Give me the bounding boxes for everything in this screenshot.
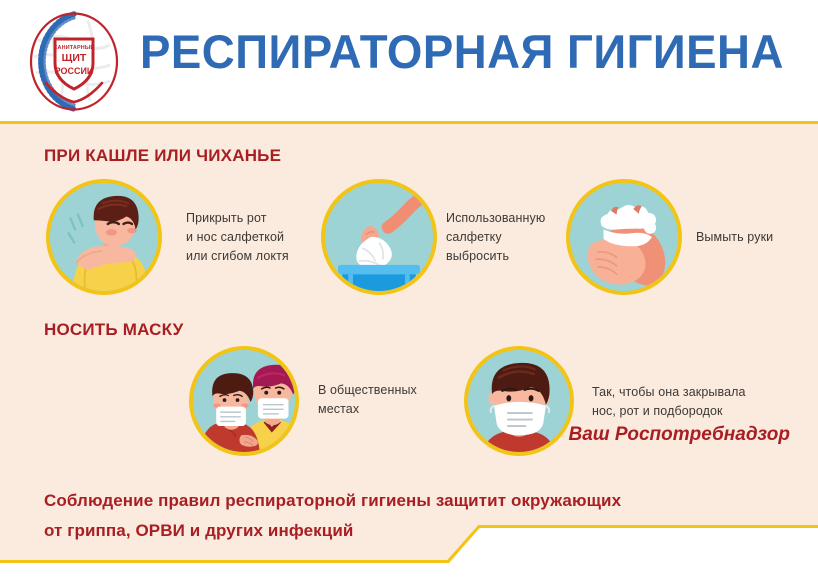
page-title: РЕСПИРАТОРНАЯ ГИГИЕНА: [140, 26, 784, 78]
section-heading-cough: ПРИ КАШЛЕ ИЛИ ЧИХАНЬЕ: [44, 146, 281, 166]
caption-wash-hands: Вымыть руки: [696, 228, 806, 247]
caption-mask-coverage: Так, чтобы она закрывала нос, рот и подб…: [592, 383, 782, 421]
footer-message: Соблюдение правил респираторной гигиены …: [44, 486, 621, 546]
caption-public-places: В общественных местах: [318, 381, 448, 419]
section-heading-mask: НОСИТЬ МАСКУ: [44, 320, 183, 340]
logo-line-1: САНИТАРНЫЙ: [54, 43, 95, 51]
soapy-hands-washing-icon: [566, 179, 682, 295]
hand-dropping-tissue-into-bin-icon: [321, 179, 437, 295]
top-gold-rule: [0, 121, 818, 124]
person-coughing-into-elbow-icon: [46, 179, 162, 295]
infographic-poster: САНИТАРНЫЙ ЩИТ РОССИИ РЕСПИРАТОРНАЯ ГИГИ…: [0, 0, 818, 578]
content-panel: ПРИ КАШЛЕ ИЛИ ЧИХАНЬЕ: [0, 121, 818, 578]
poster-header: САНИТАРНЫЙ ЩИТ РОССИИ РЕСПИРАТОРНАЯ ГИГИ…: [0, 0, 818, 121]
footer-signature: Ваш Роспотребнадзор: [568, 424, 790, 446]
sanitary-shield-of-russia-emblem: САНИТАРНЫЙ ЩИТ РОССИИ: [22, 11, 126, 112]
caption-discard-tissue: Использованную салфетку выбросить: [446, 209, 576, 266]
logo-line-2: ЩИТ: [62, 52, 87, 64]
logo-line-3: РОССИИ: [55, 66, 94, 76]
face-with-mask-covering-nose-mouth-chin-icon: [464, 346, 574, 456]
caption-cover-mouth: Прикрыть рот и нос салфеткой или сгибом …: [186, 209, 306, 266]
two-people-wearing-masks-icon: [189, 346, 299, 456]
